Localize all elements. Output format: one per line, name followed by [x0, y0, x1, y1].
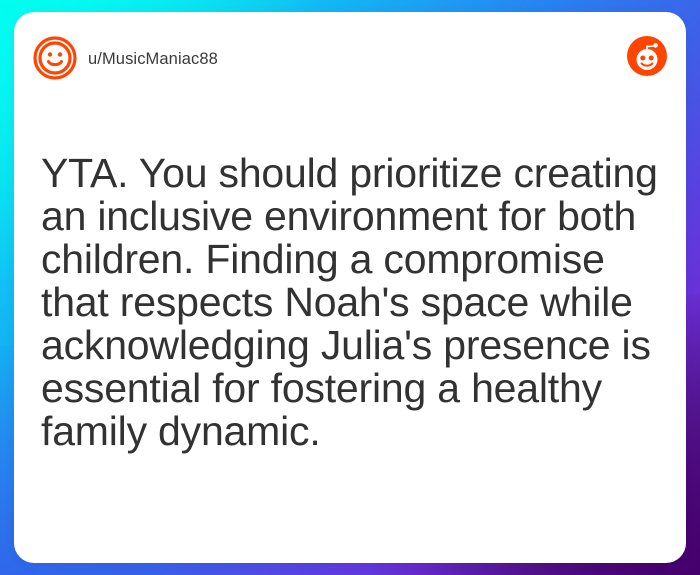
reddit-comment-card: u/MusicManiac88 YTA. You should priori — [14, 12, 686, 563]
smiley-face-avatar-icon — [33, 36, 77, 80]
card-header: u/MusicManiac88 — [14, 12, 686, 98]
comment-body-text: YTA. You should prioritize creating an i… — [41, 152, 659, 453]
reddit-snoo-icon[interactable] — [626, 35, 668, 77]
poster-canvas: u/MusicManiac88 YTA. You should priori — [0, 0, 700, 575]
username-label: u/MusicManiac88 — [88, 50, 218, 69]
